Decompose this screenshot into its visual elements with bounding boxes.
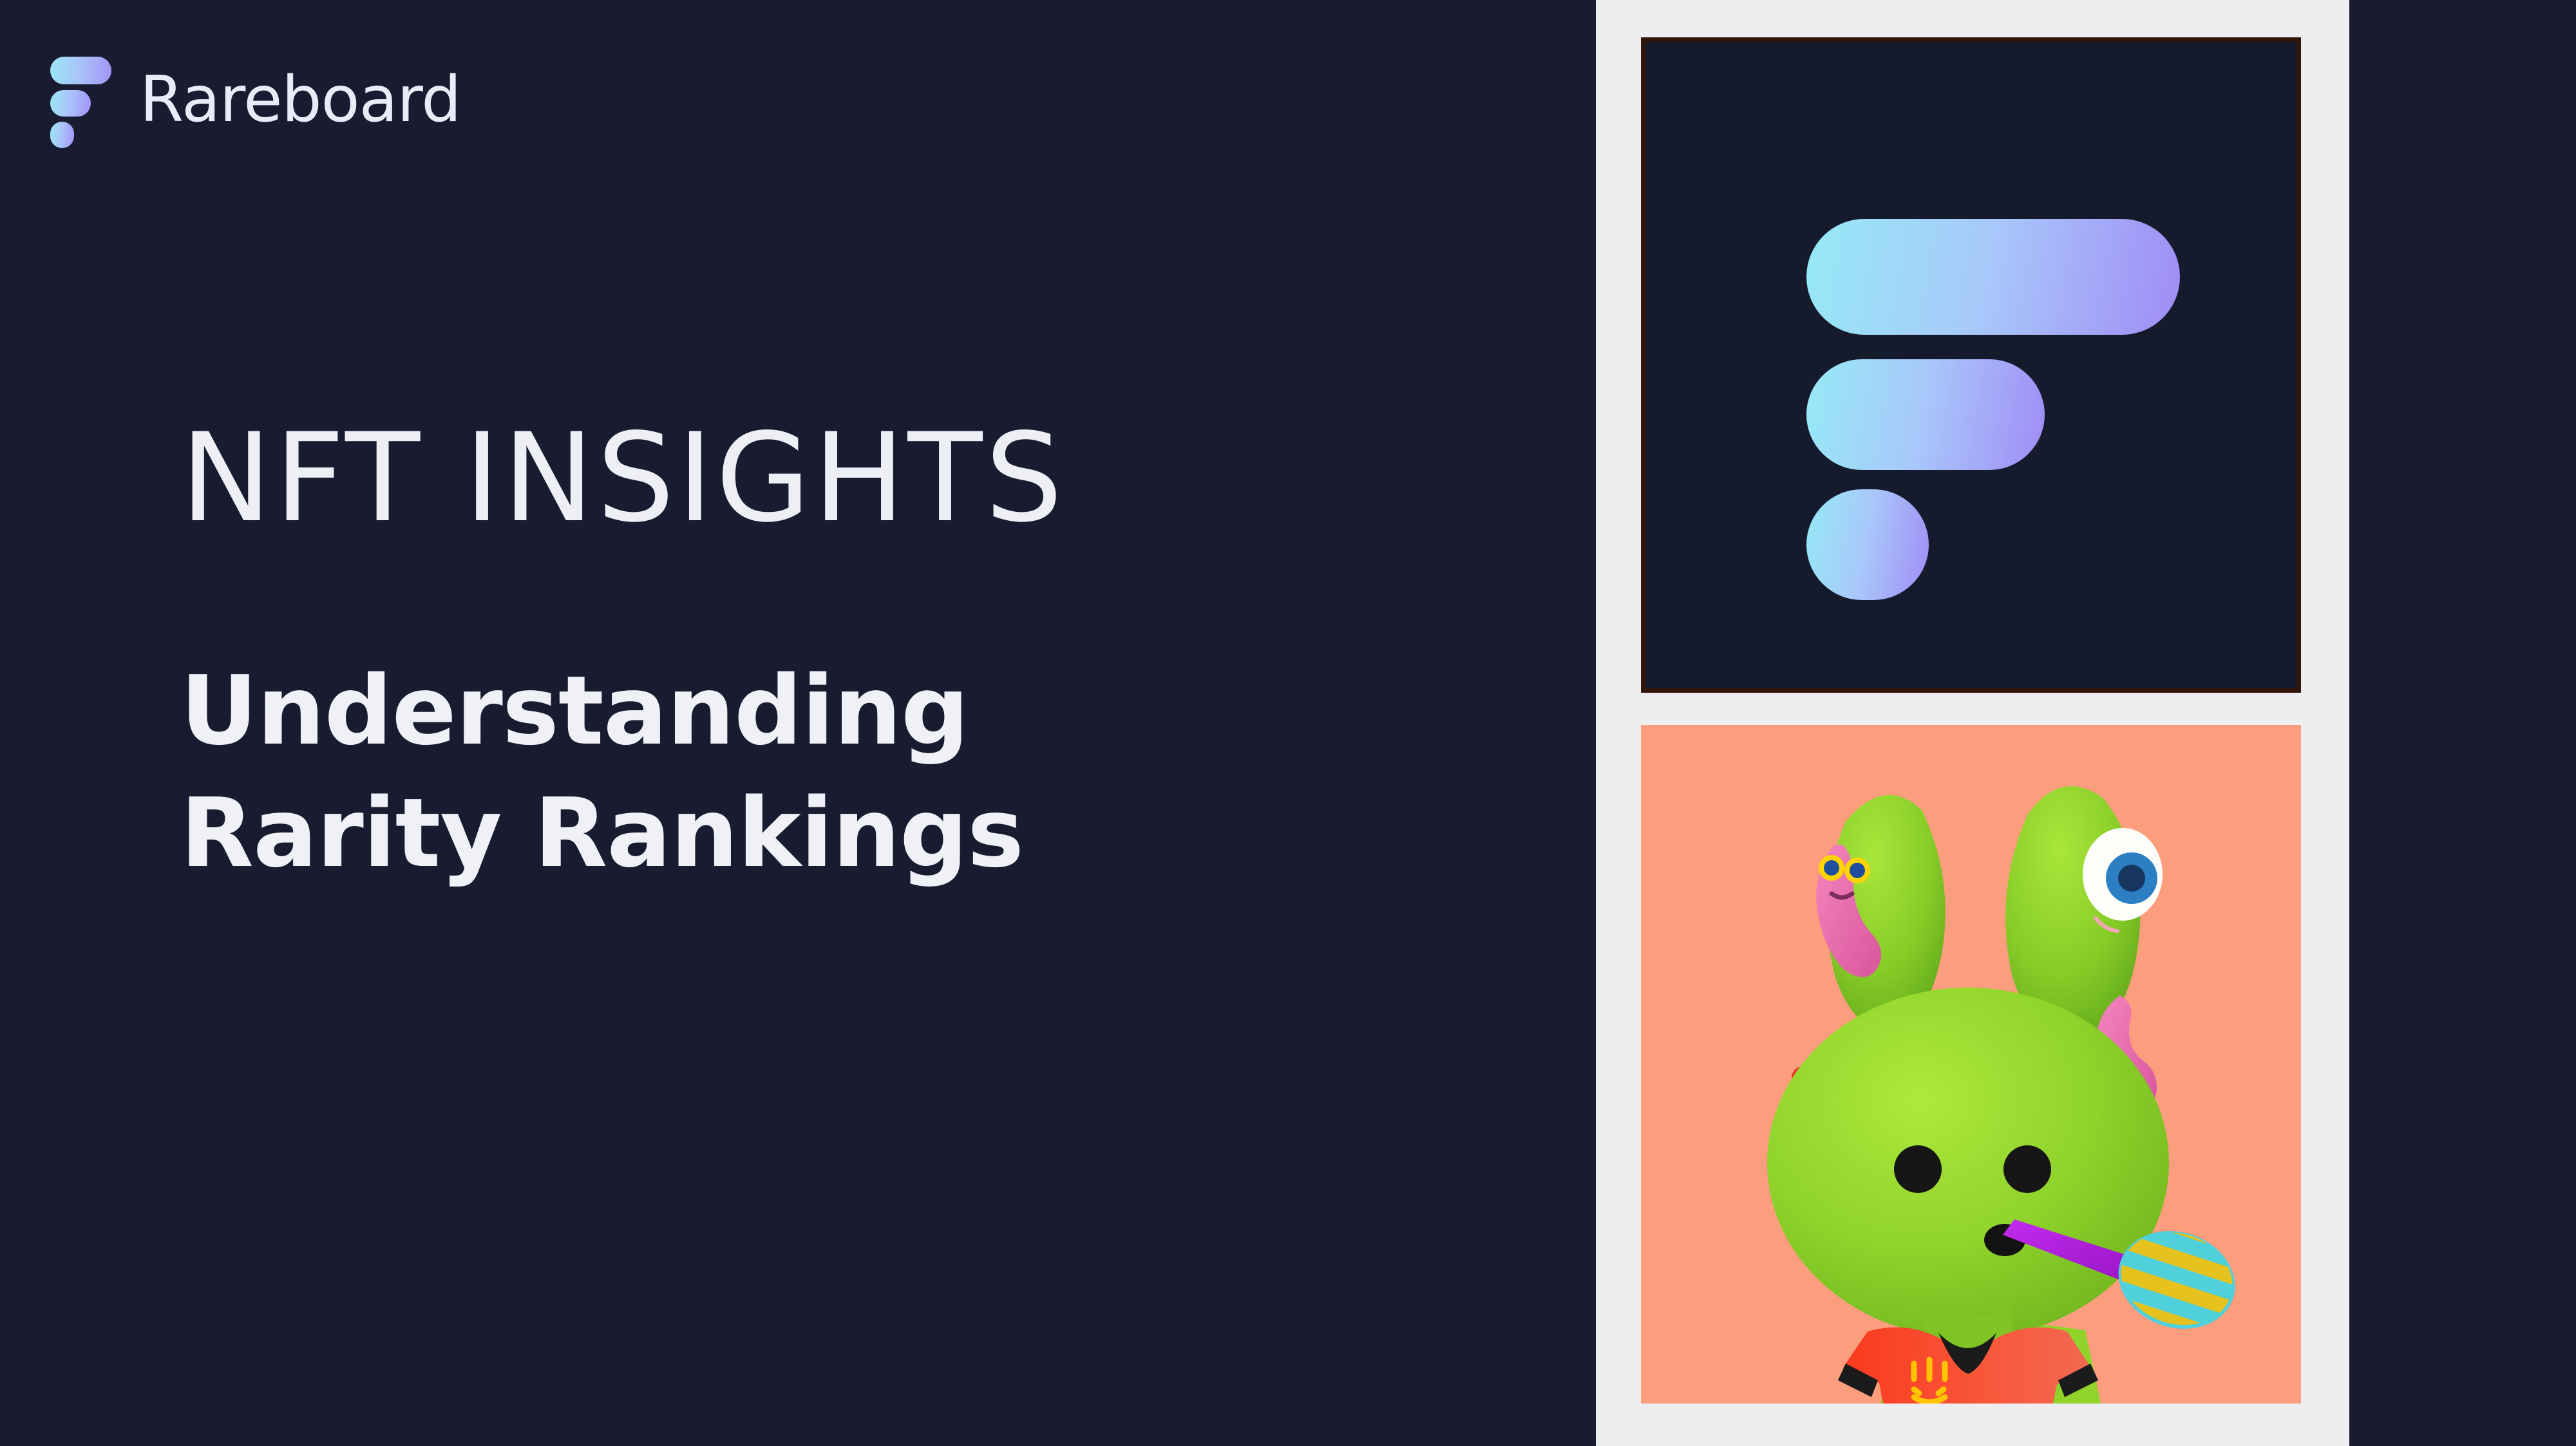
logo-bar-middle	[50, 90, 91, 117]
page-title: NFT INSIGHTS	[180, 412, 1468, 544]
logo-bar-bottom	[1806, 489, 1929, 600]
logo-bar-middle	[1806, 359, 2045, 470]
rareboard-f-logo-icon	[50, 52, 111, 148]
logo-bar-top	[1806, 219, 2180, 335]
nft-artwork-card[interactable]	[1641, 725, 2301, 1404]
rareboard-f-logo-icon-large	[1806, 219, 2180, 579]
left-hero-panel: Rareboard NFT INSIGHTS Understanding Rar…	[0, 0, 1596, 1446]
page-subtitle: Understanding Rarity Rankings	[180, 650, 1468, 894]
logo-bar-bottom	[50, 122, 74, 148]
brand-wordmark: Rareboard	[140, 68, 460, 131]
logo-bar-top	[50, 57, 111, 84]
brand-lockup[interactable]: Rareboard	[50, 52, 460, 148]
right-media-panel	[1596, 0, 2349, 1446]
subtitle-line-1: Understanding	[180, 650, 1468, 772]
subtitle-line-2: Rarity Rankings	[180, 773, 1468, 894]
logo-card[interactable]	[1641, 37, 2301, 693]
nft-character-illustration	[1641, 725, 2301, 1404]
headline-block: NFT INSIGHTS Understanding Rarity Rankin…	[180, 412, 1468, 894]
